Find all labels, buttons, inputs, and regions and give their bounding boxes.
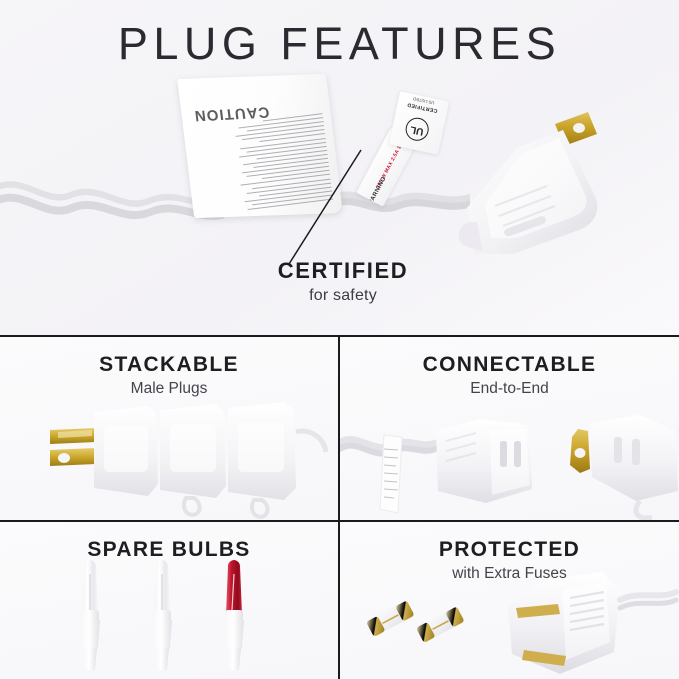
panel-connectable-subtitle: End-to-End xyxy=(340,380,679,398)
panel-spare-bulbs: SPARE BULBS xyxy=(0,522,338,679)
male-plug-3 xyxy=(228,402,296,517)
male-plug-1 xyxy=(94,406,158,496)
bulb-red xyxy=(224,560,244,670)
panel-stackable-title: STACKABLE xyxy=(0,353,338,377)
ul-black-text: WARNING xyxy=(367,155,399,207)
certified-leader-line xyxy=(285,148,365,266)
panel-stackable: STACKABLE Male Plugs xyxy=(0,337,338,520)
callout-subtitle: for safety xyxy=(198,287,488,305)
female-socket xyxy=(436,419,532,503)
plug-features-infographic: PLUG FEATURES CAUTION xyxy=(0,0,679,679)
fuse-2 xyxy=(416,606,465,643)
hero-plug-photo xyxy=(455,104,610,254)
bulb-clear-2 xyxy=(152,560,172,670)
bulb-clear-1 xyxy=(80,560,100,670)
callout-title: CERTIFIED xyxy=(198,258,488,284)
panel-protected: PROTECTED with Extra Fuses xyxy=(340,522,679,679)
male-plug-facing xyxy=(570,415,678,518)
divider-vertical xyxy=(338,337,340,679)
panel-protected-title: PROTECTED xyxy=(340,538,679,562)
page-title: PLUG FEATURES xyxy=(0,18,679,70)
ul-logo-icon: UL xyxy=(404,116,431,143)
hero-panel: PLUG FEATURES CAUTION xyxy=(0,0,679,335)
fused-plug xyxy=(508,572,676,674)
panel-spare-bulbs-title: SPARE BULBS xyxy=(0,538,338,562)
ul-badge: US LISTED CERTIFIED UL xyxy=(389,91,449,154)
spare-bulbs-photo xyxy=(62,552,277,679)
fuse-1 xyxy=(366,600,415,637)
brass-prong-icon xyxy=(50,428,96,466)
stacked-male-plugs-photo xyxy=(8,392,338,520)
small-hang-tag xyxy=(380,435,402,513)
ul-certification-label: 320 W MAX 2.5A 125V 60Hz WARNING US LIST… xyxy=(372,96,450,204)
certified-callout: CERTIFIED for safety xyxy=(198,258,488,305)
panel-connectable: CONNECTABLE End-to-End xyxy=(340,337,679,520)
male-plug-2 xyxy=(160,404,226,515)
panel-protected-subtitle: with Extra Fuses xyxy=(340,565,679,583)
connectable-plugs-photo xyxy=(340,397,679,520)
panel-connectable-title: CONNECTABLE xyxy=(340,353,679,377)
panel-stackable-subtitle: Male Plugs xyxy=(0,380,338,398)
